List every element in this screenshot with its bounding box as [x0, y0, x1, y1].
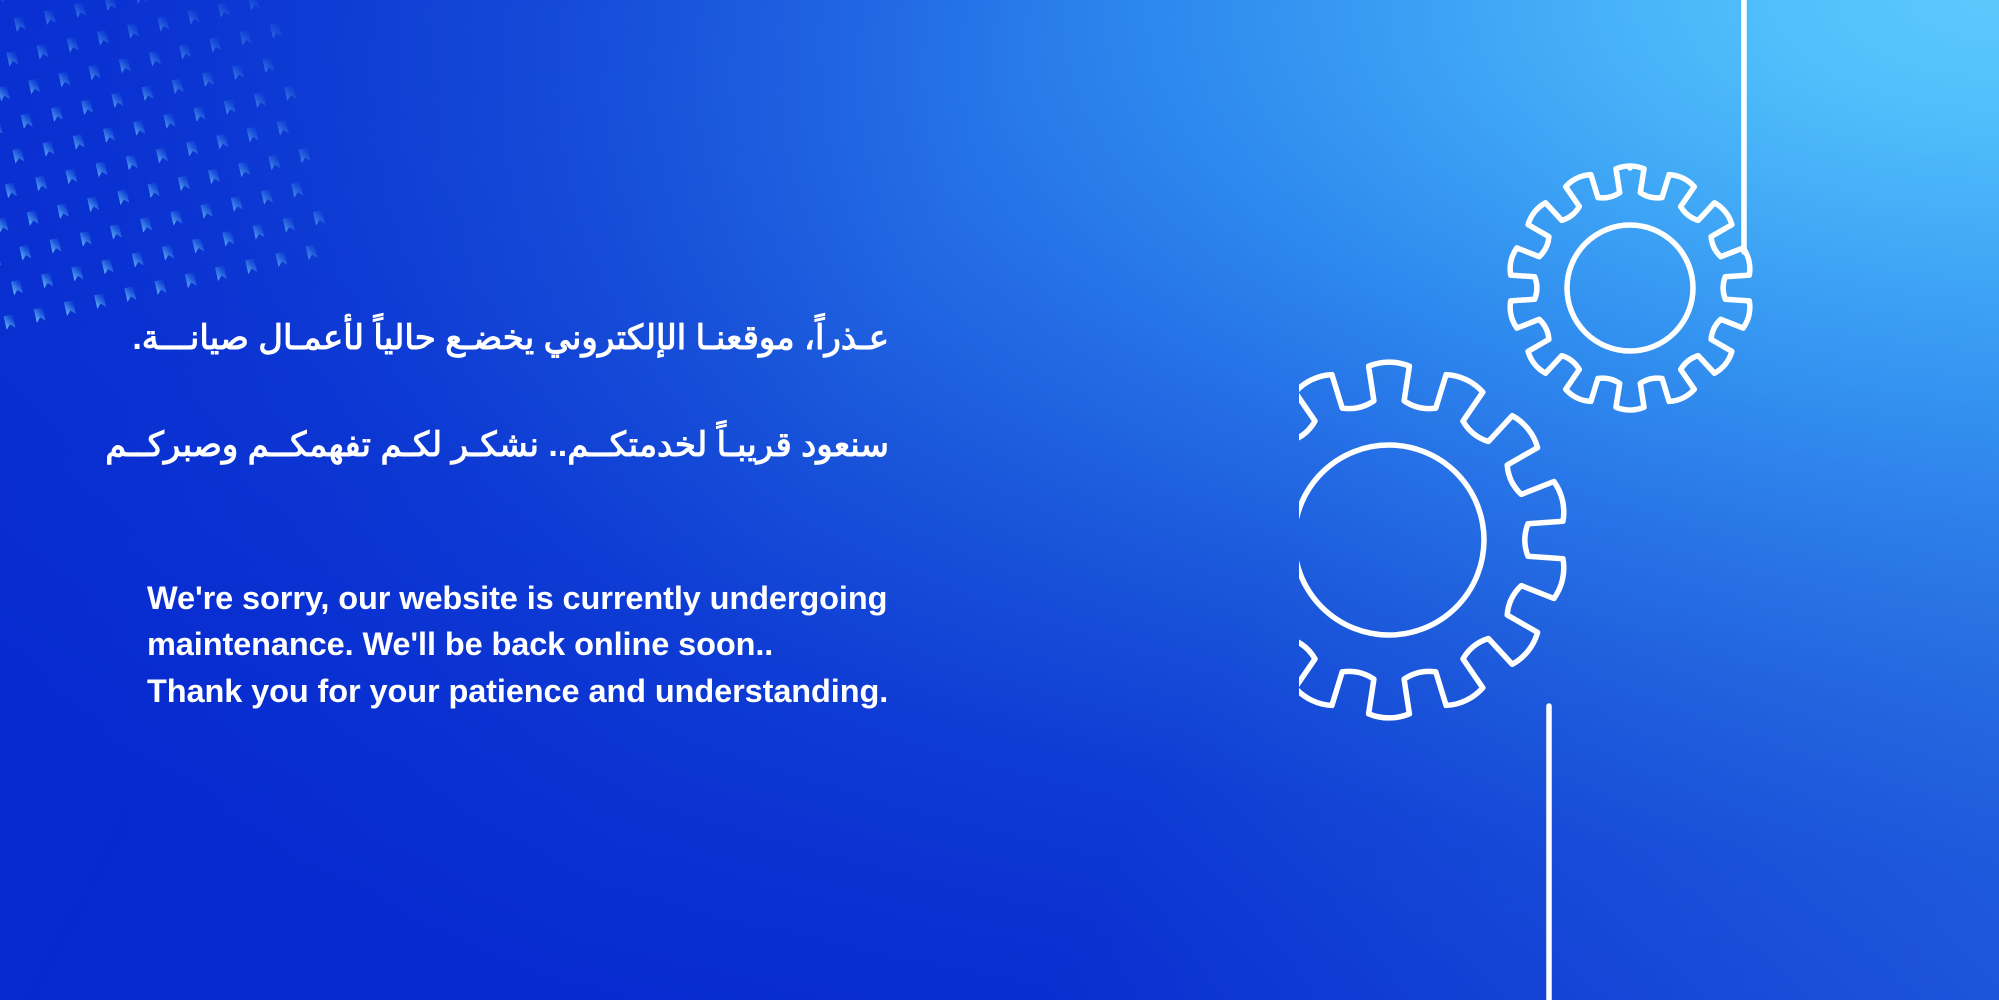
arabic-line-2: سنعود قريبـاً لخدمتكــم.. نشكـر لكـم تفه… — [147, 419, 889, 473]
arabic-message: عـذراً، موقعنـا الإلكتروني يخضـع حالياً … — [147, 258, 889, 527]
english-line-3: Thank you for your patience and understa… — [147, 668, 1147, 715]
arabic-line-1: عـذراً، موقعنـا الإلكتروني يخضـع حالياً … — [147, 312, 889, 366]
maintenance-page: عـذراً، موقعنـا الإلكتروني يخضـع حالياً … — [0, 0, 1999, 1000]
english-line-2: maintenance. We'll be back online soon.. — [147, 621, 1147, 668]
english-line-1: We're sorry, our website is currently un… — [147, 575, 1147, 622]
message-block: عـذراً، موقعنـا الإلكتروني يخضـع حالياً … — [147, 258, 1147, 715]
english-message: We're sorry, our website is currently un… — [147, 575, 1147, 715]
